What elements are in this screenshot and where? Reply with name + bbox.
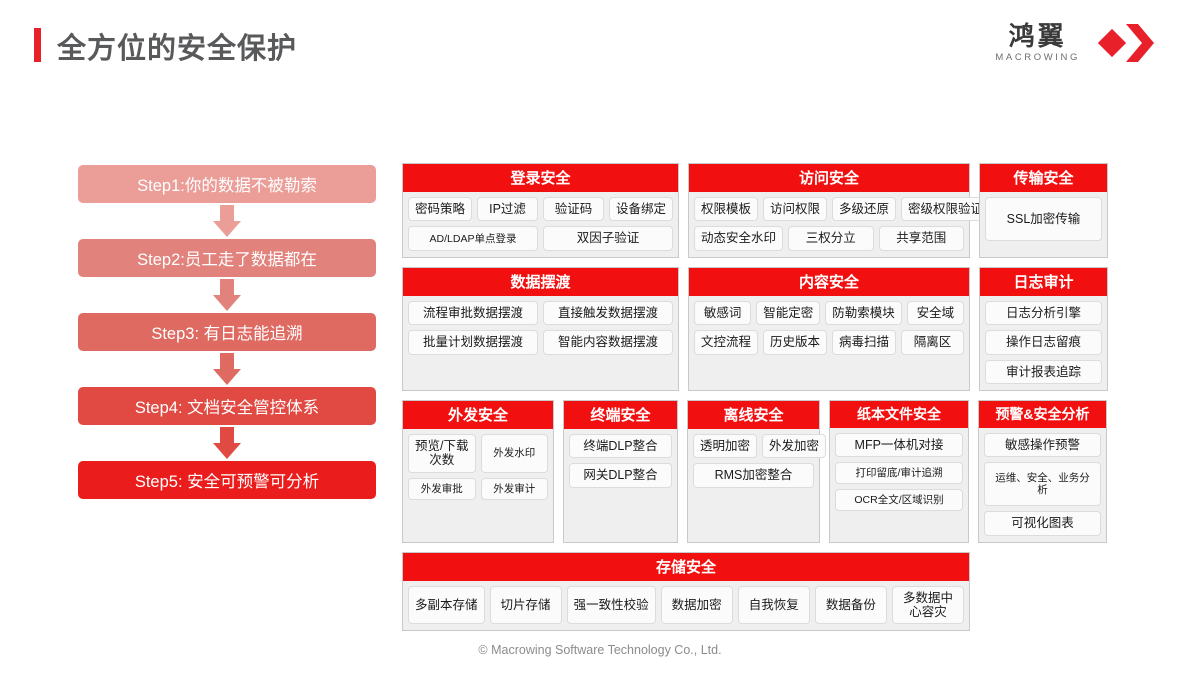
capability-chip[interactable]: 历史版本 [763,330,827,354]
capability-chip[interactable]: 外发审批 [408,478,476,500]
arrow-head [213,369,241,385]
chip-row: 运维、安全、业务分析 [984,462,1101,506]
diamond-chevron-icon [1090,21,1164,65]
chip-row: 敏感词智能定密防勒索模块安全域 [694,301,964,325]
capability-chip[interactable]: 外发水印 [481,434,549,473]
capability-matrix: 登录安全密码策略IP过滤验证码设备绑定AD/LDAP单点登录双因子验证访问安全权… [402,163,1108,640]
capability-chip[interactable]: 流程审批数据摆渡 [408,301,538,325]
chip-row: 动态安全水印三权分立共享范围 [694,226,964,250]
capability-chip[interactable]: 密级权限验证 [901,197,990,221]
step-box-5[interactable]: Step5: 安全可预警可分析 [78,461,376,499]
panel-body: MFP一体机对接打印留底/审计追溯OCR全文/区域识别 [830,428,968,542]
flow-arrow-3 [78,351,376,387]
chip-row: 流程审批数据摆渡直接触发数据摆渡 [408,301,673,325]
capability-panel[interactable]: 终端安全终端DLP整合网关DLP整合 [563,400,678,543]
panel-title: 日志审计 [980,268,1107,296]
panel-body: 多副本存储切片存储强一致性校验数据加密自我恢复数据备份多数据中心容灾 [403,581,969,631]
arrow-head [213,295,241,311]
capability-chip[interactable]: 验证码 [543,197,604,221]
step-label: Step2:员工走了数据都在 [137,246,317,270]
capability-chip[interactable]: 外发加密 [762,434,826,458]
panel-body: 终端DLP整合网关DLP整合 [564,429,677,542]
capability-chip[interactable]: 多数据中心容灾 [892,586,964,625]
capability-chip[interactable]: 直接触发数据摆渡 [543,301,673,325]
panel-title: 离线安全 [688,401,819,429]
step-flow: Step1:你的数据不被勒索Step2:员工走了数据都在Step3: 有日志能追… [78,165,376,499]
chip-row: 日志分析引擎 [985,301,1102,325]
capability-chip[interactable]: 透明加密 [693,434,757,458]
step-label: Step4: 文档安全管控体系 [135,394,319,418]
flow-arrow-4 [78,425,376,461]
down-arrow-icon [207,427,247,459]
capability-chip[interactable]: OCR全文/区域识别 [835,489,963,511]
panel-body: 敏感词智能定密防勒索模块安全域文控流程历史版本病毒扫描隔离区 [689,296,969,390]
capability-chip[interactable]: 可视化图表 [984,511,1101,535]
matrix-row: 登录安全密码策略IP过滤验证码设备绑定AD/LDAP单点登录双因子验证访问安全权… [402,163,1108,258]
page-title: 全方位的安全保护 [57,25,297,67]
panel-title: 终端安全 [564,401,677,429]
step-box-1[interactable]: Step1:你的数据不被勒索 [78,165,376,203]
flow-arrow-2 [78,277,376,313]
capability-chip[interactable]: 自我恢复 [738,586,810,625]
title-accent-bar [34,28,41,62]
panel-body: 透明加密外发加密RMS加密整合 [688,429,819,542]
capability-chip[interactable]: 密码策略 [408,197,472,221]
capability-panel[interactable]: 外发安全预览/下载次数外发水印外发审批外发审计 [402,400,554,543]
panel-body: SSL加密传输 [980,192,1107,257]
chip-row: 操作日志留痕 [985,330,1102,354]
capability-panel[interactable]: 内容安全敏感词智能定密防勒索模块安全域文控流程历史版本病毒扫描隔离区 [688,267,970,391]
panel-title: 存储安全 [403,553,969,581]
slide-header: 全方位的安全保护 鸿翼 MACROWING [0,0,1200,95]
capability-panel[interactable]: 纸本文件安全MFP一体机对接打印留底/审计追溯OCR全文/区域识别 [829,400,969,543]
logo-wordmark: 鸿翼 MACROWING [995,23,1080,63]
chip-row: RMS加密整合 [693,463,814,487]
panel-body: 权限模板访问权限多级还原密级权限验证动态安全水印三权分立共享范围 [689,192,969,257]
arrow-head [213,221,241,237]
capability-chip[interactable]: 访问权限 [763,197,827,221]
capability-chip[interactable]: SSL加密传输 [985,197,1102,241]
step-box-2[interactable]: Step2:员工走了数据都在 [78,239,376,277]
capability-panel[interactable]: 离线安全透明加密外发加密RMS加密整合 [687,400,820,543]
capability-chip[interactable]: 病毒扫描 [832,330,896,354]
chip-row: 文控流程历史版本病毒扫描隔离区 [694,330,964,354]
chip-row: 批量计划数据摆渡智能内容数据摆渡 [408,330,673,354]
capability-chip[interactable]: 操作日志留痕 [985,330,1102,354]
matrix-row: 外发安全预览/下载次数外发水印外发审批外发审计终端安全终端DLP整合网关DLP整… [402,400,1108,543]
down-arrow-icon [207,353,247,385]
step-label: Step5: 安全可预警可分析 [135,468,319,492]
capability-panel[interactable]: 预警&安全分析敏感操作预警运维、安全、业务分析可视化图表 [978,400,1107,543]
chip-row: 透明加密外发加密 [693,434,814,458]
logo-arrow-mark [1090,21,1164,65]
chip-row: OCR全文/区域识别 [835,489,963,511]
chip-row: 外发审批外发审计 [408,478,548,500]
step-box-3[interactable]: Step3: 有日志能追溯 [78,313,376,351]
capability-chip[interactable]: 双因子验证 [543,226,673,250]
panel-title: 预警&安全分析 [979,401,1106,428]
panel-title: 外发安全 [403,401,553,429]
capability-chip[interactable]: 敏感操作预警 [984,433,1101,457]
chip-row: 审计报表追踪 [985,360,1102,384]
capability-chip[interactable]: RMS加密整合 [693,463,814,487]
capability-chip[interactable]: 设备绑定 [609,197,673,221]
step-box-4[interactable]: Step4: 文档安全管控体系 [78,387,376,425]
panel-title: 登录安全 [403,164,678,192]
down-arrow-icon [207,205,247,237]
panel-body: 日志分析引擎操作日志留痕审计报表追踪 [980,296,1107,390]
chip-row: AD/LDAP单点登录双因子验证 [408,226,673,250]
capability-chip[interactable]: 共享范围 [879,226,965,250]
capability-chip[interactable]: 网关DLP整合 [569,463,672,487]
panel-body: 密码策略IP过滤验证码设备绑定AD/LDAP单点登录双因子验证 [403,192,678,257]
chip-row: 多副本存储切片存储强一致性校验数据加密自我恢复数据备份多数据中心容灾 [408,586,964,625]
capability-chip[interactable]: 切片存储 [490,586,562,625]
chip-row: 网关DLP整合 [569,463,672,487]
panel-body: 敏感操作预警运维、安全、业务分析可视化图表 [979,428,1106,542]
capability-chip[interactable]: 外发审计 [481,478,549,500]
capability-chip[interactable]: 三权分立 [788,226,874,250]
panel-title: 数据摆渡 [403,268,678,296]
chip-row: 可视化图表 [984,511,1101,535]
footer-copyright: © Macrowing Software Technology Co., Ltd… [0,643,1200,657]
capability-panel[interactable]: 传输安全SSL加密传输 [979,163,1108,258]
step-label: Step3: 有日志能追溯 [151,320,302,344]
capability-panel[interactable]: 访问安全权限模板访问权限多级还原密级权限验证动态安全水印三权分立共享范围 [688,163,970,258]
capability-panel[interactable]: 日志审计日志分析引擎操作日志留痕审计报表追踪 [979,267,1108,391]
capability-chip[interactable]: 运维、安全、业务分析 [984,462,1101,506]
panel-body: 预览/下载次数外发水印外发审批外发审计 [403,429,553,542]
capability-chip[interactable]: 多级还原 [832,197,896,221]
chip-row: 敏感操作预警 [984,433,1101,457]
chip-row: SSL加密传输 [985,197,1102,241]
capability-panel[interactable]: 数据摆渡流程审批数据摆渡直接触发数据摆渡批量计划数据摆渡智能内容数据摆渡 [402,267,679,391]
capability-chip[interactable]: 敏感词 [694,301,751,325]
chip-row: 预览/下载次数外发水印 [408,434,548,473]
capability-panel[interactable]: 存储安全多副本存储切片存储强一致性校验数据加密自我恢复数据备份多数据中心容灾 [402,552,970,632]
capability-chip[interactable]: 防勒索模块 [825,301,902,325]
capability-chip[interactable]: 智能内容数据摆渡 [543,330,673,354]
chip-row: MFP一体机对接 [835,433,963,457]
chip-row: 打印留底/审计追溯 [835,462,963,484]
step-label: Step1:你的数据不被勒索 [137,172,317,196]
down-arrow-icon [207,279,247,311]
panel-title: 纸本文件安全 [830,401,968,428]
capability-chip[interactable]: 日志分析引擎 [985,301,1102,325]
capability-chip[interactable]: AD/LDAP单点登录 [408,226,538,250]
logo-english-name: MACROWING [995,53,1080,63]
panel-body: 流程审批数据摆渡直接触发数据摆渡批量计划数据摆渡智能内容数据摆渡 [403,296,678,390]
logo-chinese-name: 鸿翼 [1009,23,1067,49]
capability-chip[interactable]: 打印留底/审计追溯 [835,462,963,484]
panel-title: 传输安全 [980,164,1107,192]
capability-chip[interactable]: 多副本存储 [408,586,485,625]
capability-chip[interactable]: 隔离区 [901,330,964,354]
slide-canvas: 全方位的安全保护 鸿翼 MACROWING Step1:你的数据不被勒索Step… [0,0,1200,675]
capability-chip[interactable]: 动态安全水印 [694,226,783,250]
chip-row: 密码策略IP过滤验证码设备绑定 [408,197,673,221]
chip-row: 终端DLP整合 [569,434,672,458]
capability-chip[interactable]: 终端DLP整合 [569,434,672,458]
capability-chip[interactable]: 数据加密 [661,586,733,625]
arrow-head [213,443,241,459]
panel-title: 访问安全 [689,164,969,192]
brand-logo: 鸿翼 MACROWING [995,17,1164,69]
capability-chip[interactable]: 智能定密 [756,301,820,325]
capability-chip[interactable]: 审计报表追踪 [985,360,1102,384]
panel-title: 内容安全 [689,268,969,296]
matrix-row: 数据摆渡流程审批数据摆渡直接触发数据摆渡批量计划数据摆渡智能内容数据摆渡内容安全… [402,267,1108,391]
capability-panel[interactable]: 登录安全密码策略IP过滤验证码设备绑定AD/LDAP单点登录双因子验证 [402,163,679,258]
capability-chip[interactable]: 权限模板 [694,197,758,221]
capability-chip[interactable]: 预览/下载次数 [408,434,476,473]
capability-chip[interactable]: 批量计划数据摆渡 [408,330,538,354]
capability-chip[interactable]: 数据备份 [815,586,887,625]
chip-row: 权限模板访问权限多级还原密级权限验证 [694,197,964,221]
capability-chip[interactable]: 文控流程 [694,330,758,354]
capability-chip[interactable]: MFP一体机对接 [835,433,963,457]
flow-arrow-1 [78,203,376,239]
capability-chip[interactable]: 安全域 [907,301,964,325]
capability-chip[interactable]: 强一致性校验 [567,586,656,625]
matrix-row: 存储安全多副本存储切片存储强一致性校验数据加密自我恢复数据备份多数据中心容灾 [402,552,1108,632]
capability-chip[interactable]: IP过滤 [477,197,538,221]
